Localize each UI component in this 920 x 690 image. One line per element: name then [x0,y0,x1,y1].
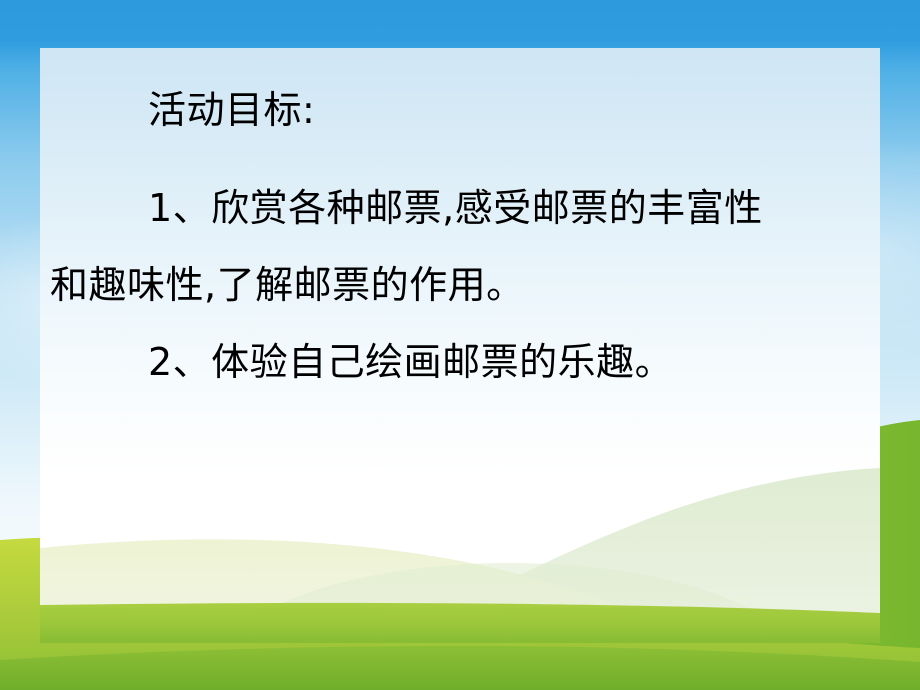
hill-right-shape [415,468,880,643]
hill-overlap-blend [220,563,800,643]
panel-grass-band [40,603,880,643]
slide-canvas: 活动目标: 1、欣赏各种邮票,感受邮票的丰富性 和趣味性,了解邮票的作用。 2、… [0,0,920,690]
objective-item-1-continuation: 和趣味性,了解邮票的作用。 [50,247,872,324]
title-spacer [50,149,872,170]
page-title: 活动目标: [50,72,872,149]
content-panel: 活动目标: 1、欣赏各种邮票,感受邮票的丰富性 和趣味性,了解邮票的作用。 2、… [40,48,880,643]
objective-item-2: 2、体验自己绘画邮票的乐趣。 [50,324,872,401]
objective-item-1: 1、欣赏各种邮票,感受邮票的丰富性 [50,170,872,247]
text-content: 活动目标: 1、欣赏各种邮票,感受邮票的丰富性 和趣味性,了解邮票的作用。 2、… [40,72,880,401]
hill-front-shape [40,539,695,643]
hill-back-shape [495,526,880,643]
